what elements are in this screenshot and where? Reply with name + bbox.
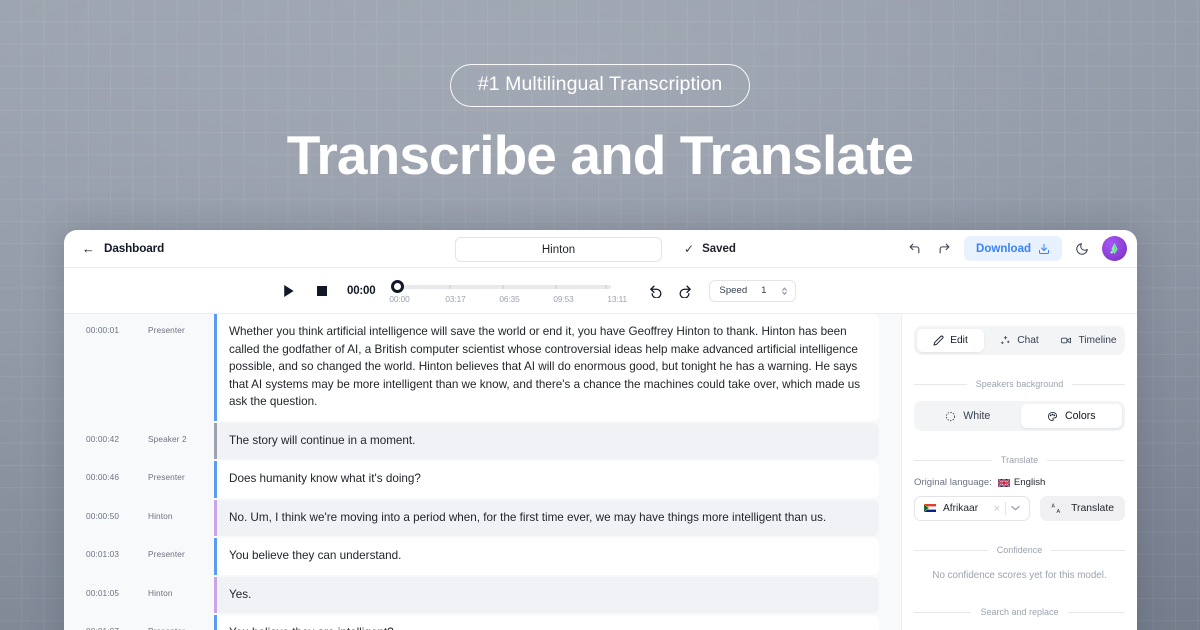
translate-button[interactable]: А A Translate: [1040, 496, 1125, 521]
target-language-value: Afrikaar: [943, 503, 978, 514]
table-row[interactable]: 00:01:05 Hinton Yes.: [64, 577, 901, 616]
play-icon: [283, 285, 294, 297]
sidebar-tabs: Edit Chat Timeline: [914, 326, 1125, 355]
download-icon: [1038, 243, 1050, 255]
player-progress-track[interactable]: [397, 285, 611, 289]
transcript-text[interactable]: No. Um, I think we're moving into a peri…: [214, 500, 879, 537]
divider-line-right: [1068, 612, 1125, 613]
chevron-updown-icon: [781, 286, 788, 296]
timeline-icon: [1060, 335, 1072, 346]
speakers-background-divider: Speakers background: [914, 379, 1125, 389]
transcript-timestamp: 00:00:01: [86, 325, 148, 335]
app-body: 00:00:01 Presenter Whether you think art…: [64, 314, 1137, 630]
redo-icon: [938, 242, 951, 255]
player-time-ticks: 00:00 03:17 06:35 09:53 13:11: [389, 294, 611, 306]
table-row[interactable]: 00:00:46 Presenter Does humanity know wh…: [64, 461, 901, 500]
speakers-background-white-option[interactable]: White: [917, 404, 1019, 428]
transcript-row-meta: 00:00:42 Speaker 2: [64, 423, 214, 444]
player-seek-area[interactable]: 00:00 03:17 06:35 09:53 13:11: [389, 276, 611, 306]
translate-button-label: Translate: [1071, 503, 1114, 514]
stop-button[interactable]: [313, 286, 331, 296]
tab-edit-label: Edit: [950, 335, 968, 346]
player-progress-knob[interactable]: [391, 280, 404, 293]
tab-chat-label: Chat: [1017, 335, 1039, 346]
transcript-row-meta: 00:00:50 Hinton: [64, 500, 214, 521]
back-to-dashboard-label: Dashboard: [104, 242, 164, 255]
topbar-actions: Download: [904, 236, 1127, 261]
theme-toggle-button[interactable]: [1072, 239, 1092, 259]
original-language-row: Original language: English: [914, 477, 1125, 488]
forward-10-icon: [677, 283, 692, 298]
app-window: ← Dashboard ✓ Saved Download: [64, 230, 1137, 630]
rewind-button[interactable]: [645, 283, 667, 298]
user-avatar-icon: [1107, 241, 1122, 256]
target-language-select[interactable]: Afrikaar ×: [914, 496, 1030, 521]
transcript-speaker: Presenter: [148, 626, 185, 630]
check-icon: ✓: [684, 243, 694, 255]
table-row[interactable]: 00:00:50 Hinton No. Um, I think we're mo…: [64, 500, 901, 539]
save-status-label: Saved: [702, 243, 736, 255]
transcript-text[interactable]: Yes.: [214, 577, 879, 614]
time-tick: 13:11: [607, 294, 627, 304]
divider-line-left: [914, 550, 988, 551]
divider-line-right: [1051, 550, 1125, 551]
time-tick: 06:35: [499, 294, 519, 304]
confidence-section-label: Confidence: [997, 545, 1043, 555]
original-language-value: English: [1014, 477, 1045, 488]
transcript-speaker: Hinton: [148, 588, 173, 598]
forward-button[interactable]: [673, 283, 695, 298]
page-title: Transcribe and Translate: [0, 126, 1200, 184]
tab-chat[interactable]: Chat: [986, 329, 1053, 352]
media-player-bar: 00:00 00:00 03:17 06:35 09:53 13:11: [64, 268, 1137, 314]
uk-flag-icon: [998, 479, 1010, 487]
sparkles-icon: [1000, 335, 1011, 346]
project-title-input[interactable]: [455, 237, 662, 262]
table-row[interactable]: 00:01:03 Presenter You believe they can …: [64, 538, 901, 577]
divider-line-left: [914, 384, 967, 385]
time-tick: 03:17: [445, 294, 465, 304]
transcript-speaker: Presenter: [148, 325, 185, 335]
hero-section: #1 Multilingual Transcription Transcribe…: [0, 0, 1200, 185]
transcript-speaker: Presenter: [148, 472, 185, 482]
transcript-list[interactable]: 00:00:01 Presenter Whether you think art…: [64, 314, 901, 630]
speakers-background-colors-option[interactable]: Colors: [1021, 404, 1123, 428]
undo-icon: [908, 242, 921, 255]
arrow-left-icon: ←: [82, 242, 95, 255]
table-row[interactable]: 00:00:01 Presenter Whether you think art…: [64, 314, 901, 423]
download-label: Download: [976, 243, 1031, 255]
divider-line-left: [914, 460, 992, 461]
transcript-timestamp: 00:00:46: [86, 472, 148, 482]
speakers-background-colors-label: Colors: [1065, 410, 1096, 422]
transcript-speaker: Hinton: [148, 511, 173, 521]
table-row[interactable]: 00:01:07 Presenter You believe they are …: [64, 615, 901, 630]
search-replace-divider: Search and replace: [914, 607, 1125, 617]
right-sidebar: Edit Chat Timeline Speakers backg: [901, 314, 1137, 630]
speakers-background-white-label: White: [963, 410, 990, 422]
transcript-speaker: Presenter: [148, 549, 185, 559]
pencil-icon: [933, 335, 944, 346]
transcript-speaker: Speaker 2: [148, 434, 187, 444]
moon-icon: [1075, 242, 1089, 256]
speakers-background-toggle: White Colors: [914, 401, 1125, 431]
original-language-label: Original language:: [914, 477, 992, 488]
divider-line-right: [1047, 460, 1125, 461]
stop-icon: [317, 286, 327, 296]
translate-icon: А A: [1051, 503, 1063, 515]
translate-controls: Afrikaar × А A Translate: [914, 496, 1125, 521]
transcript-text[interactable]: Does humanity know what it's doing?: [214, 461, 879, 498]
transcript-row-meta: 00:01:05 Hinton: [64, 577, 214, 598]
save-status: ✓ Saved: [684, 230, 736, 268]
player-current-time: 00:00: [347, 285, 375, 297]
transcript-timestamp: 00:00:42: [86, 434, 148, 444]
transcript-row-meta: 00:01:03 Presenter: [64, 538, 214, 559]
transcript-timestamp: 00:01:07: [86, 626, 148, 630]
svg-text:А: А: [1052, 503, 1056, 509]
download-button[interactable]: Download: [964, 236, 1062, 261]
circle-dashed-icon: [945, 411, 956, 422]
transcript-text[interactable]: You believe they are intelligent?: [214, 615, 879, 630]
transcript-row-meta: 00:00:46 Presenter: [64, 461, 214, 482]
confidence-message: No confidence scores yet for this model.: [914, 567, 1125, 581]
speakers-background-label: Speakers background: [976, 379, 1064, 389]
transcript-timestamp: 00:00:50: [86, 511, 148, 521]
palette-icon: [1047, 411, 1058, 422]
time-tick: 00:00: [389, 294, 409, 304]
table-row[interactable]: 00:00:42 Speaker 2 The story will contin…: [64, 423, 901, 462]
close-icon[interactable]: ×: [989, 503, 1005, 515]
translate-section-label: Translate: [1001, 455, 1038, 465]
translate-divider: Translate: [914, 455, 1125, 465]
playback-speed-value: 1: [761, 285, 766, 296]
tab-edit[interactable]: Edit: [917, 329, 984, 352]
hero-badge: #1 Multilingual Transcription: [450, 64, 751, 107]
app-topbar: ← Dashboard ✓ Saved Download: [64, 230, 1137, 268]
confidence-divider: Confidence: [914, 545, 1125, 555]
transcript-timestamp: 00:01:03: [86, 549, 148, 559]
undo-button[interactable]: [904, 239, 924, 259]
time-tick: 09:53: [553, 294, 573, 304]
svg-text:A: A: [1057, 509, 1061, 515]
transcript-row-meta: 00:00:01 Presenter: [64, 314, 214, 335]
transcript-text[interactable]: The story will continue in a moment.: [214, 423, 879, 460]
south-africa-flag-icon: [924, 504, 936, 514]
playback-speed-select[interactable]: Speed 1: [709, 280, 795, 302]
search-replace-section-label: Search and replace: [980, 607, 1058, 617]
avatar[interactable]: [1102, 236, 1127, 261]
play-button[interactable]: [279, 285, 297, 297]
chevron-down-icon[interactable]: [1006, 504, 1025, 513]
rewind-10-icon: [649, 283, 664, 298]
tab-timeline-label: Timeline: [1078, 335, 1116, 346]
tab-timeline[interactable]: Timeline: [1055, 329, 1122, 352]
redo-button[interactable]: [934, 239, 954, 259]
transcript-text[interactable]: Whether you think artificial intelligenc…: [214, 314, 879, 421]
playback-speed-label: Speed: [719, 285, 747, 296]
divider-line-left: [914, 612, 971, 613]
back-to-dashboard-button[interactable]: ← Dashboard: [82, 242, 164, 255]
transcript-text[interactable]: You believe they can understand.: [214, 538, 879, 575]
divider-line-right: [1072, 384, 1125, 385]
transcript-row-meta: 00:01:07 Presenter: [64, 615, 214, 630]
transcript-timestamp: 00:01:05: [86, 588, 148, 598]
original-language-value-wrap: English: [998, 477, 1045, 488]
